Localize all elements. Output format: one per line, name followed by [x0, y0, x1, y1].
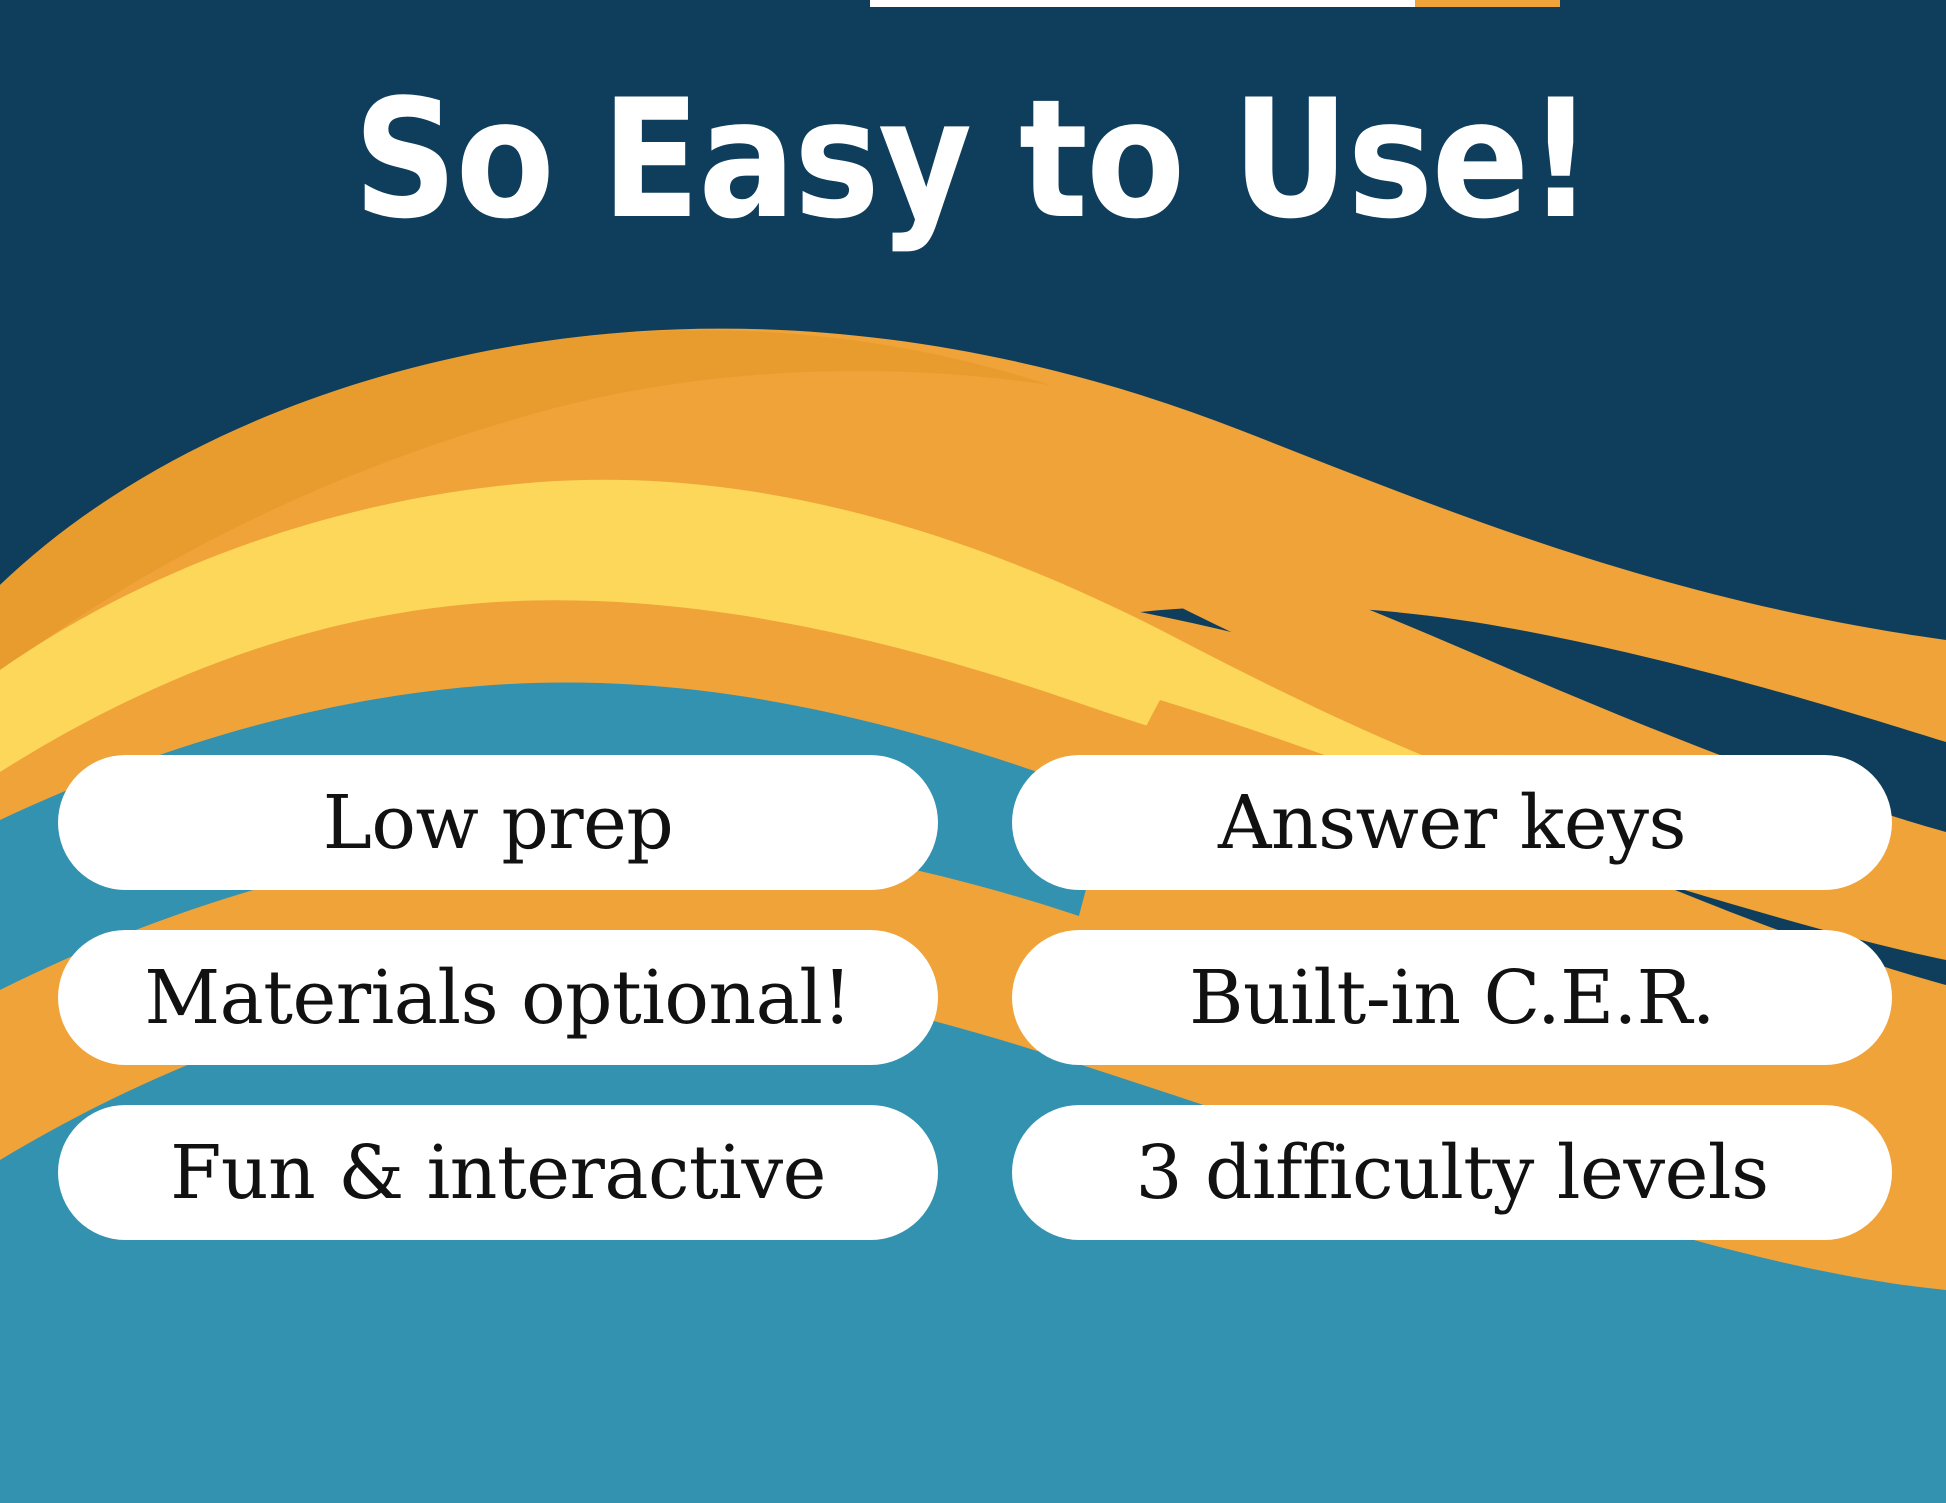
top-strip-segment-white [870, 0, 1415, 7]
top-accent-strip [0, 0, 1946, 7]
feature-pill-label: 3 difficulty levels [1135, 1136, 1768, 1210]
top-strip-segment-navy [0, 0, 870, 7]
feature-pill[interactable]: 3 difficulty levels [1012, 1105, 1892, 1240]
feature-pill-grid: Low prep Answer keys Materials optional!… [58, 755, 1892, 1240]
top-strip-segment-orange [1415, 0, 1560, 7]
feature-pill[interactable]: Built-in C.E.R. [1012, 930, 1892, 1065]
feature-pill-label: Built-in C.E.R. [1189, 961, 1715, 1035]
slide-canvas: So Easy to Use! Low prep Answer keys Mat… [0, 0, 1946, 1503]
feature-pill[interactable]: Fun & interactive [58, 1105, 938, 1240]
top-strip-segment-navy-2 [1560, 0, 1946, 7]
feature-pill-label: Fun & interactive [170, 1136, 826, 1210]
feature-pill-label: Materials optional! [144, 961, 851, 1035]
decorative-wave-background [0, 0, 1946, 1503]
feature-pill[interactable]: Answer keys [1012, 755, 1892, 890]
feature-pill[interactable]: Low prep [58, 755, 938, 890]
feature-pill-label: Low prep [323, 786, 673, 860]
feature-pill[interactable]: Materials optional! [58, 930, 938, 1065]
feature-pill-label: Answer keys [1218, 786, 1686, 860]
